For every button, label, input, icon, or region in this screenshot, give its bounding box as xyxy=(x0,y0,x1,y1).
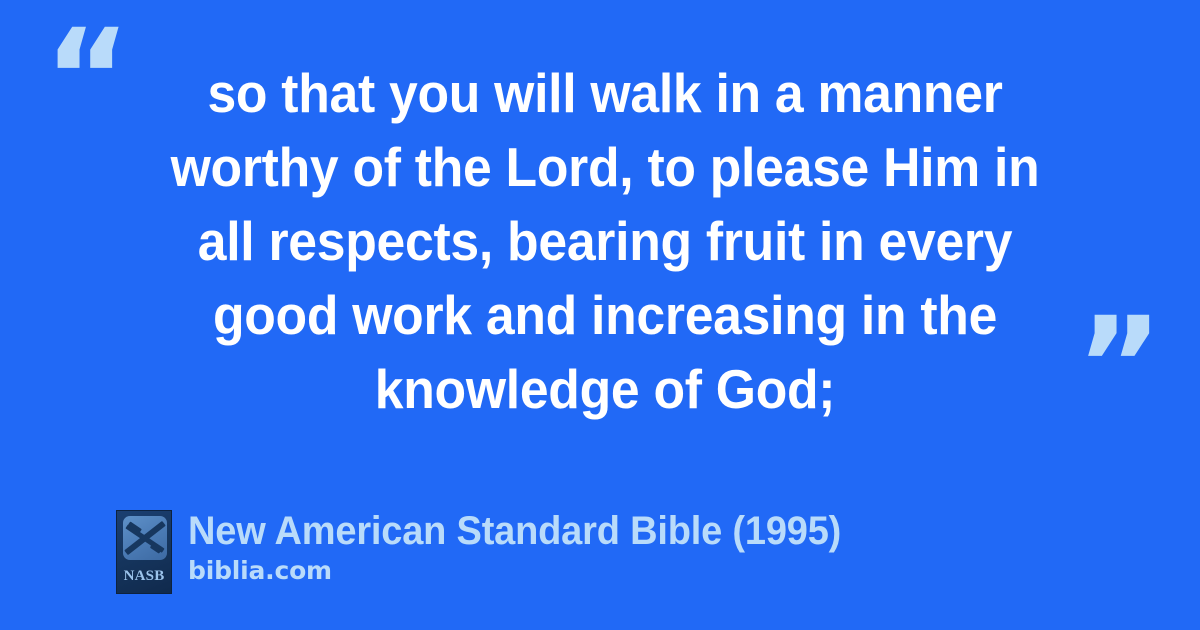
closing-quote-icon: ” xyxy=(1076,300,1163,432)
verse-line: worthy of the Lord, to please Him in xyxy=(159,130,1052,204)
site-url[interactable]: biblia.com xyxy=(188,556,876,586)
verse-line: good work and increasing in the xyxy=(159,278,1052,352)
verse-card: “ so that you will walk in a manner wort… xyxy=(0,0,1200,630)
attribution-text: New American Standard Bible (1995) bibli… xyxy=(188,508,876,586)
translation-name: New American Standard Bible (1995) xyxy=(188,508,841,554)
nasb-logo-label: NASB xyxy=(117,568,171,585)
verse-line: all respects, bearing fruit in every xyxy=(159,204,1052,278)
verse-text: so that you will walk in a manner worthy… xyxy=(130,56,1080,426)
nasb-logo: NASB xyxy=(116,510,172,594)
opening-quote-icon: “ xyxy=(44,12,131,144)
attribution-footer: NASB New American Standard Bible (1995) … xyxy=(116,508,876,594)
nasb-emblem-icon xyxy=(123,516,167,560)
verse-line: knowledge of God; xyxy=(159,352,1052,426)
verse-line: so that you will walk in a manner xyxy=(159,56,1052,130)
